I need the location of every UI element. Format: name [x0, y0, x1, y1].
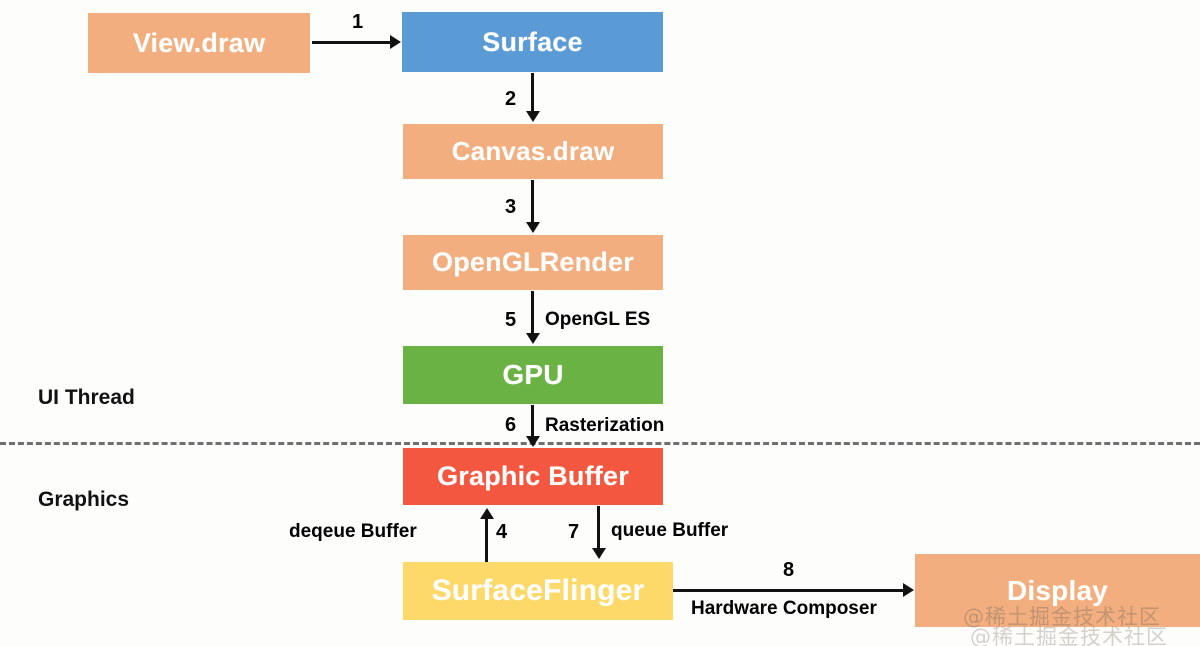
edge-4-label: deqeue Buffer: [289, 522, 417, 541]
edge-7-arrowhead: [592, 548, 606, 559]
edge-1-arrowhead: [390, 35, 401, 49]
edge-number-text: 7: [568, 521, 579, 543]
edge-6-number: 6: [505, 415, 516, 435]
node-view-draw[interactable]: View.draw: [88, 13, 310, 73]
edge-5-label: OpenGL ES: [545, 310, 650, 329]
edge-7-label: queue Buffer: [611, 521, 728, 540]
node-graphic-buffer[interactable]: Graphic Buffer: [403, 448, 663, 505]
edge-4-number: 4: [496, 522, 507, 542]
edge-8-number: 8: [783, 560, 794, 580]
edge-number-text: 3: [505, 196, 516, 218]
node-label: SurfaceFlinger: [432, 574, 645, 608]
edge-2-number: 2: [505, 89, 516, 109]
edge-8-arrowhead: [903, 583, 914, 597]
edge-label-text: OpenGL ES: [545, 309, 650, 330]
edge-6-line: [531, 405, 534, 438]
node-label: Graphic Buffer: [437, 461, 629, 492]
edge-1-line: [312, 41, 390, 44]
node-label: Canvas.draw: [452, 136, 615, 167]
edge-5-arrowhead: [526, 333, 540, 344]
edge-number-text: 6: [505, 414, 516, 436]
lane-text: UI Thread: [38, 386, 135, 409]
node-canvas-draw[interactable]: Canvas.draw: [403, 124, 663, 179]
edge-label-text: Rasterization: [545, 415, 664, 436]
lane-label-graphics: Graphics: [38, 488, 129, 512]
edge-label-text: deqeue Buffer: [289, 521, 417, 542]
node-surfaceflinger[interactable]: SurfaceFlinger: [403, 562, 673, 620]
node-label: OpenGLRender: [432, 247, 634, 278]
edge-5-line: [531, 291, 534, 335]
lane-label-ui-thread: UI Thread: [38, 386, 135, 410]
edge-number-text: 1: [352, 11, 363, 33]
edge-2-line: [531, 73, 534, 113]
node-label: GPU: [502, 359, 563, 391]
edge-3-number: 3: [505, 197, 516, 217]
edge-4-arrowhead: [480, 508, 494, 519]
lane-divider: [0, 442, 1200, 445]
lane-text: Graphics: [38, 488, 129, 511]
edge-number-text: 5: [505, 309, 516, 331]
edge-2-arrowhead: [526, 111, 540, 122]
edge-7-line: [597, 506, 600, 550]
edge-6-arrowhead: [526, 436, 540, 447]
edge-1-number: 1: [352, 12, 363, 32]
watermark-secondary: @稀土掘金技术社区: [970, 621, 1168, 646]
node-opengl-render[interactable]: OpenGLRender: [403, 235, 663, 290]
edge-3-arrowhead: [526, 222, 540, 233]
node-surface[interactable]: Surface: [402, 12, 663, 72]
edge-3-line: [531, 180, 534, 224]
node-label: Surface: [482, 27, 582, 58]
edge-5-number: 5: [505, 310, 516, 330]
node-gpu[interactable]: GPU: [403, 346, 663, 404]
edge-number-text: 2: [505, 88, 516, 110]
edge-label-text: queue Buffer: [611, 520, 728, 541]
edge-number-text: 8: [783, 559, 794, 581]
diagram-canvas: View.draw Surface Canvas.draw OpenGLRend…: [0, 0, 1200, 646]
watermark-text: @稀土掘金技术社区: [970, 625, 1168, 646]
edge-6-label: Rasterization: [545, 416, 664, 435]
edge-8-label: Hardware Composer: [691, 599, 877, 618]
edge-7-number: 7: [568, 522, 579, 542]
edge-4-line: [485, 518, 488, 562]
edge-8-line: [673, 589, 905, 592]
node-label: View.draw: [133, 28, 265, 59]
edge-label-text: Hardware Composer: [691, 598, 877, 619]
edge-number-text: 4: [496, 521, 507, 543]
